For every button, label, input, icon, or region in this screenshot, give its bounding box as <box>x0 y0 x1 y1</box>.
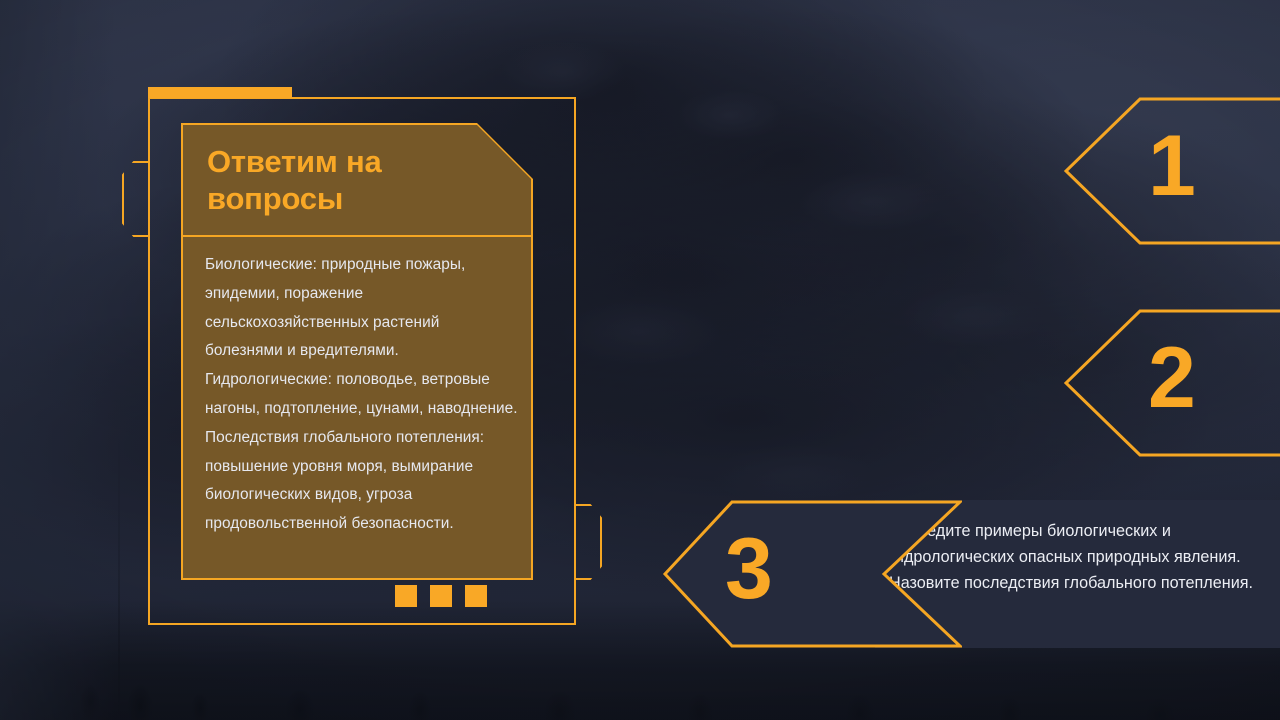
decor-square-icon <box>430 585 452 607</box>
answer-card-divider <box>181 235 533 237</box>
question-item-3[interactable]: 3 <box>662 500 962 648</box>
question-item-2[interactable]: 2 <box>1062 309 1280 457</box>
answer-card: Ответим на вопросы Биологические: природ… <box>181 123 533 580</box>
answer-panel: Ответим на вопросы Биологические: природ… <box>148 97 576 625</box>
frame-notch-right-icon <box>576 504 602 580</box>
frame-notch-left-icon <box>122 161 148 237</box>
decor-square-icon <box>395 585 417 607</box>
question-number-3: 3 <box>725 526 773 612</box>
panel-top-accent-bar <box>148 87 292 98</box>
panel-body-text: Биологические: природные пожары, эпидеми… <box>205 251 519 539</box>
question-item-1[interactable]: 1 <box>1062 97 1280 245</box>
panel-title: Ответим на вопросы <box>207 143 475 217</box>
question-number-2: 2 <box>1148 335 1196 421</box>
slide-canvas: Ответим на вопросы Биологические: природ… <box>0 0 1280 720</box>
question-number-1: 1 <box>1148 123 1196 209</box>
decor-square-icon <box>465 585 487 607</box>
decor-squares <box>395 585 487 607</box>
chevron-outline-icon <box>662 500 962 648</box>
